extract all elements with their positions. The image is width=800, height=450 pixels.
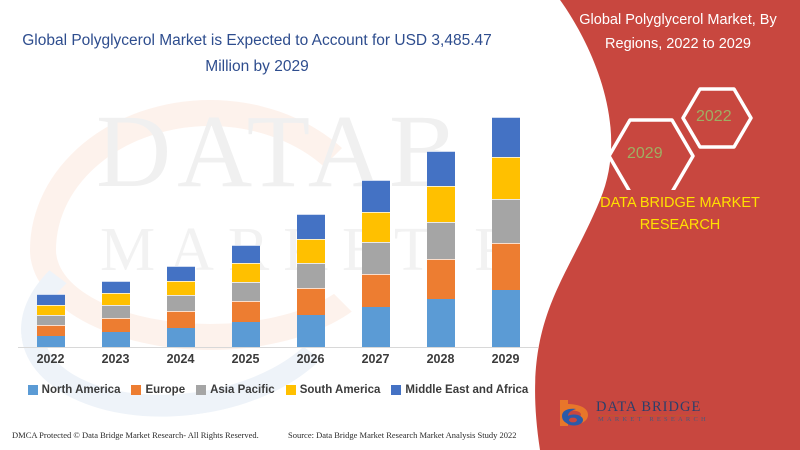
bar-segment[interactable] xyxy=(492,243,520,291)
legend-label: Asia Pacific xyxy=(210,384,275,396)
x-axis-label-2028: 2028 xyxy=(408,352,473,366)
bar-segment[interactable] xyxy=(492,290,520,347)
logo-wordmark: DATA BRIDGE xyxy=(596,399,701,416)
hexagon-2022-label: 2022 xyxy=(696,108,732,126)
bar-segment[interactable] xyxy=(492,117,520,157)
bar-segment[interactable] xyxy=(362,180,390,212)
legend-label: South America xyxy=(300,384,381,396)
bar-segment[interactable] xyxy=(492,157,520,200)
bar-2024[interactable] xyxy=(167,266,195,347)
bar-2023[interactable] xyxy=(102,281,130,347)
bar-segment[interactable] xyxy=(167,281,195,296)
legend-label: Europe xyxy=(145,384,185,396)
bar-segment[interactable] xyxy=(167,311,195,328)
panel-title: Global Polyglycerol Market, By Regions, … xyxy=(562,8,794,56)
bar-segment[interactable] xyxy=(362,307,390,347)
x-axis-label-2022: 2022 xyxy=(18,352,83,366)
legend-swatch-icon xyxy=(391,385,401,395)
bar-segment[interactable] xyxy=(167,266,195,281)
bar-segment[interactable] xyxy=(232,322,260,347)
bar-segment[interactable] xyxy=(167,328,195,347)
x-axis-labels: 20222023202420252026202720282029 xyxy=(18,352,538,374)
bar-segment[interactable] xyxy=(232,263,260,282)
legend-label: North America xyxy=(42,384,121,396)
bar-2027[interactable] xyxy=(362,180,390,347)
x-axis-label-2026: 2026 xyxy=(278,352,343,366)
bar-2025[interactable] xyxy=(232,245,260,347)
bar-2029[interactable] xyxy=(492,117,520,347)
page-title: Global Polyglycerol Market is Expected t… xyxy=(22,28,492,80)
bar-segment[interactable] xyxy=(102,305,130,318)
bar-segment[interactable] xyxy=(492,199,520,243)
brand-line-2: RESEARCH xyxy=(570,214,790,236)
x-axis-label-2027: 2027 xyxy=(343,352,408,366)
hexagon-2029-label: 2029 xyxy=(627,145,663,163)
bar-segment[interactable] xyxy=(37,305,65,315)
bar-segment[interactable] xyxy=(297,315,325,347)
bar-segment[interactable] xyxy=(102,281,130,294)
legend-label: Middle East and Africa xyxy=(405,384,528,396)
stacked-bar-chart xyxy=(18,100,538,350)
legend-swatch-icon xyxy=(131,385,141,395)
bar-2028[interactable] xyxy=(427,151,455,347)
legend-item[interactable]: South America xyxy=(286,384,381,396)
bar-segment[interactable] xyxy=(37,315,65,325)
bar-segment[interactable] xyxy=(232,245,260,263)
bar-segment[interactable] xyxy=(37,294,65,305)
footer-source: Source: Data Bridge Market Research Mark… xyxy=(288,430,517,440)
legend-swatch-icon xyxy=(28,385,38,395)
bar-segment[interactable] xyxy=(232,301,260,322)
logo-subtitle: MARKET RESEARCH xyxy=(598,416,709,423)
bar-segment[interactable] xyxy=(297,263,325,288)
bar-segment[interactable] xyxy=(297,214,325,239)
bar-2022[interactable] xyxy=(37,294,65,347)
bar-segment[interactable] xyxy=(297,239,325,263)
x-axis-label-2024: 2024 xyxy=(148,352,213,366)
x-axis-label-2025: 2025 xyxy=(213,352,278,366)
legend-item[interactable]: Europe xyxy=(131,384,185,396)
footer-copyright: DMCA Protected © Data Bridge Market Rese… xyxy=(12,430,259,440)
bar-segment[interactable] xyxy=(37,325,65,336)
legend-swatch-icon xyxy=(286,385,296,395)
bar-segment[interactable] xyxy=(362,212,390,242)
legend-item[interactable]: Asia Pacific xyxy=(196,384,275,396)
bar-segment[interactable] xyxy=(102,293,130,305)
legend-item[interactable]: North America xyxy=(28,384,121,396)
legend-item[interactable]: Middle East and Africa xyxy=(391,384,528,396)
bar-segment[interactable] xyxy=(362,274,390,308)
bar-segment[interactable] xyxy=(102,318,130,332)
bar-segment[interactable] xyxy=(427,259,455,300)
x-axis-label-2023: 2023 xyxy=(83,352,148,366)
infographic-root: DATAB MARKET R Global Polyglycerol Marke… xyxy=(0,0,800,450)
bar-segment[interactable] xyxy=(297,288,325,316)
bar-2026[interactable] xyxy=(297,214,325,347)
plot-area xyxy=(18,100,538,348)
x-axis-label-2029: 2029 xyxy=(473,352,538,366)
data-bridge-logo: DATA BRIDGE MARKET RESEARCH xyxy=(556,396,706,436)
bar-segment[interactable] xyxy=(37,336,65,347)
bar-segment[interactable] xyxy=(102,332,130,347)
legend-swatch-icon xyxy=(196,385,206,395)
bar-segment[interactable] xyxy=(362,242,390,274)
bar-segment[interactable] xyxy=(427,186,455,222)
chart-legend: North AmericaEuropeAsia PacificSouth Ame… xyxy=(18,384,538,396)
bar-segment[interactable] xyxy=(232,282,260,302)
bar-segment[interactable] xyxy=(427,222,455,259)
hexagon-group: 2022 2029 xyxy=(600,85,770,190)
data-bridge-logo-mark xyxy=(556,396,596,436)
bar-segment[interactable] xyxy=(167,295,195,311)
bar-segment[interactable] xyxy=(427,151,455,187)
brand-line-1: DATA BRIDGE MARKET xyxy=(570,192,790,214)
bar-segment[interactable] xyxy=(427,299,455,347)
brand-name: DATA BRIDGE MARKET RESEARCH xyxy=(570,192,790,236)
